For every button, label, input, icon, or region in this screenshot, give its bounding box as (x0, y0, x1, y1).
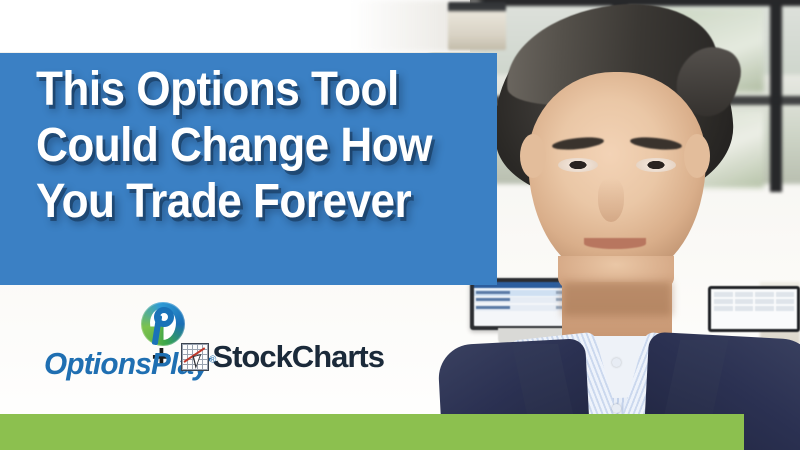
stockcharts-grid-cursor-icon (181, 343, 209, 371)
neck-shadow (562, 282, 672, 316)
ear-right (684, 134, 710, 178)
eye-left (558, 158, 598, 172)
stockcharts-wordmark: StockCharts (212, 339, 384, 375)
mouth (584, 238, 646, 249)
title-line-2: Could Change How (36, 118, 452, 174)
video-thumbnail: This Options Tool Could Change How You T… (0, 0, 800, 450)
ear-left (520, 134, 546, 178)
registered-mark: ® (209, 355, 215, 366)
title-line-1: This Options Tool (36, 62, 452, 118)
page-title: This Options Tool Could Change How You T… (36, 62, 452, 230)
title-line-3: You Trade Forever (36, 174, 452, 230)
shirt-button (612, 404, 621, 413)
nose (598, 178, 624, 222)
eye-right (636, 158, 676, 172)
accent-bar (0, 414, 744, 450)
logo-lockup: OptionsPlay® + StockCharts (44, 300, 384, 396)
optionsplay-logo: OptionsPlay® (44, 302, 150, 394)
optionsplay-p-glyph-icon (150, 307, 176, 343)
shirt-button (612, 358, 621, 367)
